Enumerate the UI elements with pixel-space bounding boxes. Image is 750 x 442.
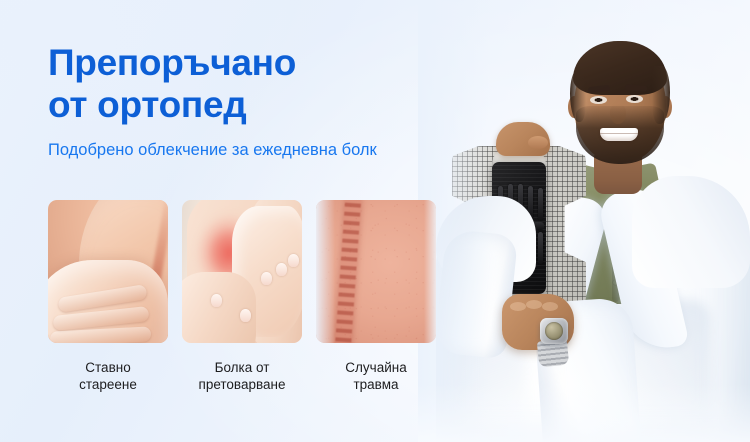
fingernail-shape <box>276 263 287 276</box>
promo-banner: Препоръчано от ортопед Подобрено облекче… <box>0 0 750 442</box>
knuckle-highlight <box>542 302 558 311</box>
headline-line-1: Препоръчано <box>48 42 296 83</box>
headline-block: Препоръчано от ортопед Подобрено облекче… <box>48 42 478 160</box>
smile-teeth <box>600 128 638 141</box>
caption-line-1: Болка от <box>215 360 270 375</box>
condition-caption: Ставно стареене <box>48 359 168 393</box>
hand-layer-secondary <box>182 272 256 344</box>
thumb-finger-top <box>528 136 548 149</box>
page-title: Препоръчано от ортопед <box>48 42 478 126</box>
eye-left <box>590 96 607 104</box>
fingernail-shape <box>261 272 272 285</box>
condition-image-joint-aging <box>48 200 168 343</box>
fingernail-shape <box>211 294 222 307</box>
headline-line-2: от ортопед <box>48 84 478 126</box>
knuckle-highlight <box>510 302 526 311</box>
eye-right <box>626 95 643 103</box>
coat-shoulder-right <box>632 176 750 288</box>
caption-line-2: травма <box>353 377 398 392</box>
watch-face <box>545 322 563 340</box>
caption-line-2: претоварване <box>199 377 286 392</box>
subheadline: Подобрено облекчение за ежедневна болк <box>48 140 478 160</box>
condition-image-accidental-injury <box>316 200 436 343</box>
condition-list: Ставно стареене Болка от претовар <box>48 200 436 393</box>
mouth-line <box>600 133 638 134</box>
caption-line-1: Ставно <box>85 360 130 375</box>
caption-line-1: Случайна <box>345 360 406 375</box>
knuckle-highlight <box>526 300 542 309</box>
nose <box>610 104 626 124</box>
fingernail-shape <box>240 309 251 322</box>
image-edge-fade-left <box>316 200 335 343</box>
brace-support-stay <box>538 188 543 220</box>
condition-image-overuse-pain <box>182 200 302 343</box>
list-item[interactable]: Случайна травма <box>316 200 436 393</box>
caption-line-2: стареене <box>79 377 137 392</box>
brace-support-stay <box>538 232 543 264</box>
condition-caption: Болка от претоварване <box>182 359 302 393</box>
image-edge-fade-right <box>424 200 436 343</box>
fingernail-shape <box>288 254 299 267</box>
condition-caption: Случайна травма <box>316 359 436 393</box>
list-item[interactable]: Ставно стареене <box>48 200 168 393</box>
list-item[interactable]: Болка от претоварване <box>182 200 302 393</box>
